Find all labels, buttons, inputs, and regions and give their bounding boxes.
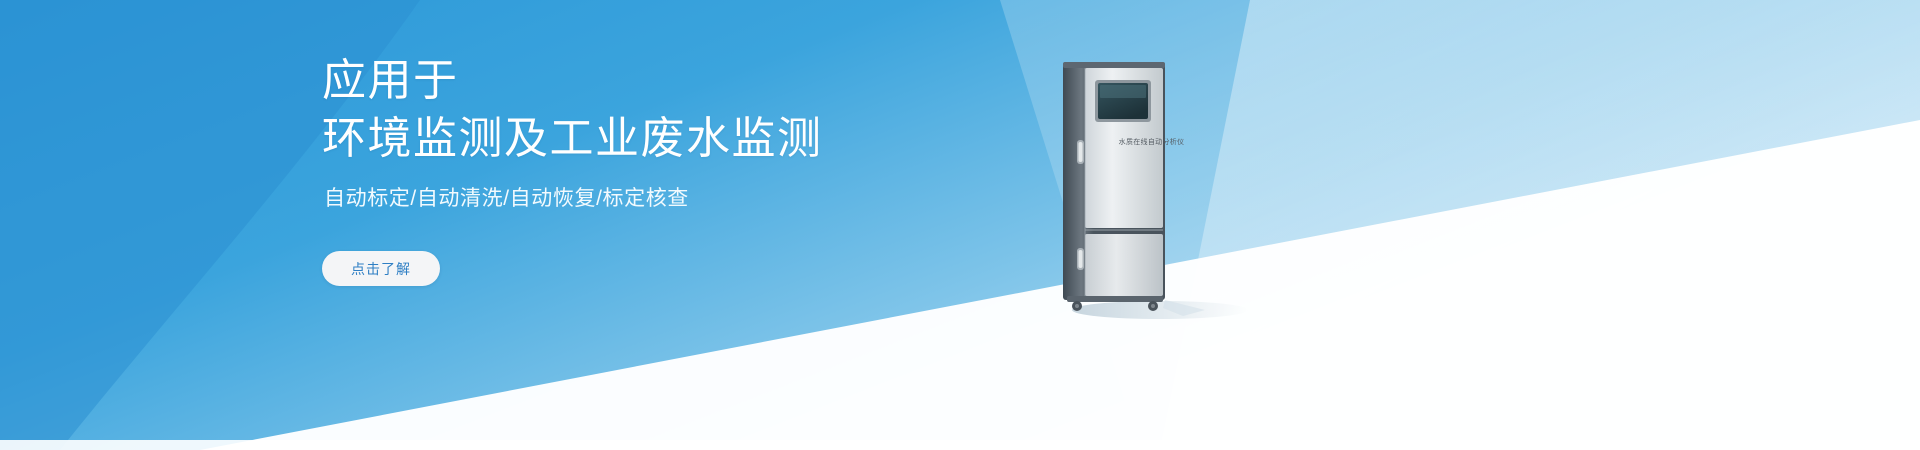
headline-line-2: 环境监测及工业废水监测 <box>322 110 823 168</box>
headline-line-1: 应用于 <box>322 56 459 105</box>
learn-more-button[interactable]: 点击了解 <box>322 251 440 286</box>
hero-banner: 应用于 环境监测及工业废水监测 自动标定/自动清洗/自动恢复/标定核查 点击了解 <box>0 0 1920 450</box>
page-title: 应用于 环境监测及工业废水监测 <box>322 52 823 168</box>
device-caption: 水质在线自动分析仪 <box>1094 137 1209 147</box>
analyzer-device-illustration <box>1055 58 1255 323</box>
banner-subtitle: 自动标定/自动清洗/自动恢复/标定核查 <box>324 184 689 214</box>
banner-text-block: 应用于 环境监测及工业废水监测 自动标定/自动清洗/自动恢复/标定核查 <box>322 0 1082 450</box>
